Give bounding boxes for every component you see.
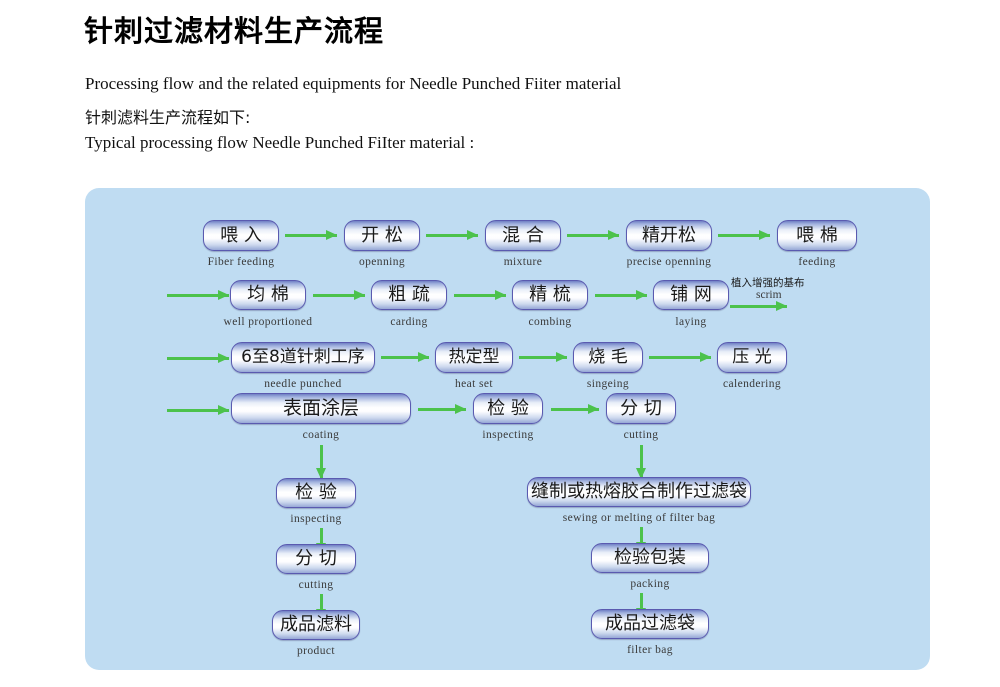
caption-mixture: mixture [465,256,581,268]
caption-inspecting-row4: inspecting [450,429,566,441]
subtitle-line-2: 针刺滤料生产流程如下: [85,104,250,128]
caption-needle-punched: needle punched [243,378,363,390]
arrow-row1-1 [285,230,337,241]
node-label-cn: 分 切 [295,550,337,568]
arrow-head [455,404,466,414]
node-well-proportioned[interactable]: 均 棉 [230,280,306,310]
arrow-row2-1 [313,290,365,301]
arrow-row4-1 [418,404,466,415]
node-heat-set[interactable]: 热定型 [435,342,513,373]
node-calendering[interactable]: 压 光 [717,342,787,373]
caption-heat-set: heat set [416,378,532,390]
node-label-cn: 缝制或热熔胶合制作过滤袋 [531,483,747,501]
arrow-row2-2 [454,290,506,301]
arrow-head [467,230,478,240]
node-fiber-feeding[interactable]: 喂 入 [203,220,279,251]
page-root: 针刺过滤材料生产流程 Processing flow and the relat… [0,0,1000,687]
node-label-cn: 开 松 [361,227,403,245]
subtitle-line-1: Processing flow and the related equipmen… [85,74,621,94]
node-needle-punched[interactable]: 6至8道针刺工序 [231,342,375,373]
caption-openning: openning [324,256,440,268]
caption-combing: combing [492,316,608,328]
node-label-cn: 检验包装 [614,549,686,567]
arrow-row4-2 [551,404,599,415]
node-openning[interactable]: 开 松 [344,220,420,251]
node-inspecting-left[interactable]: 检 验 [276,478,356,508]
node-singeing[interactable]: 烧 毛 [573,342,643,373]
node-label-cn: 压 光 [732,349,771,366]
arrow-row3-1 [381,352,429,363]
node-label-cn: 精开松 [642,227,696,245]
arrow-head [495,290,506,300]
caption-inspecting-left: inspecting [258,513,374,525]
node-carding[interactable]: 粗 疏 [371,280,447,310]
arrow-head [218,290,229,300]
arrow-head [636,290,647,300]
caption-cutting-row4: cutting [583,429,699,441]
node-label-cn: 成品滤料 [280,616,352,634]
node-cutting-row4[interactable]: 分 切 [606,393,676,424]
caption-coating: coating [261,429,381,441]
caption-product: product [258,645,374,657]
arrow-head [556,352,567,362]
caption-carding: carding [351,316,467,328]
node-label-cn: 喂 入 [220,227,262,245]
node-label-cn: 分 切 [620,400,662,418]
node-label-cn: 精 梳 [529,286,571,304]
arrow-head [354,290,365,300]
arrow-scrim [730,301,787,312]
node-label-cn: 成品过滤袋 [605,615,695,633]
flowchart-panel: 喂 入 Fiber feeding 开 松 openning 混 合 mixtu… [85,188,930,670]
node-mixture[interactable]: 混 合 [485,220,561,251]
node-combing[interactable]: 精 梳 [512,280,588,310]
caption-filter-bag: filter bag [591,644,709,656]
node-label-cn: 6至8道针刺工序 [241,349,365,366]
node-sewing-filter-bag[interactable]: 缝制或热熔胶合制作过滤袋 [527,477,751,507]
arrow-head [700,352,711,362]
arrow-row1-3 [567,230,619,241]
node-label-cn: 表面涂层 [283,399,359,418]
node-product[interactable]: 成品滤料 [272,610,360,640]
arrow-branch-right-1 [636,445,647,479]
caption-fiber-feeding: Fiber feeding [183,256,299,268]
caption-precise-openning: precise openning [602,256,736,268]
caption-cutting-left: cutting [258,579,374,591]
arrow-head [218,353,229,363]
arrow-head [326,230,337,240]
arrow-row1-2 [426,230,478,241]
node-label-cn: 粗 疏 [388,286,430,304]
arrow-head [218,405,229,415]
subtitle-line-3: Typical processing flow Needle Punched F… [85,133,474,153]
node-laying[interactable]: 铺 网 [653,280,729,310]
arrow-head [418,352,429,362]
caption-laying: laying [633,316,749,328]
node-label-cn: 混 合 [502,227,544,245]
node-packing[interactable]: 检验包装 [591,543,709,573]
arrow-head [776,301,787,311]
caption-feeding: feeding [759,256,875,268]
caption-calendering: calendering [694,378,810,390]
node-label-cn: 检 验 [487,400,529,418]
caption-well-proportioned: well proportioned [198,316,338,328]
node-coating[interactable]: 表面涂层 [231,393,411,424]
node-label-cn: 均 棉 [247,286,289,304]
node-feeding[interactable]: 喂 棉 [777,220,857,251]
node-label-cn: 铺 网 [670,286,712,304]
arrow-row2-in [167,290,229,301]
arrow-head [759,230,770,240]
arrow-row3-in [167,353,229,364]
node-inspecting-row4[interactable]: 检 验 [473,393,543,424]
node-label-cn: 热定型 [449,349,500,366]
node-label-cn: 烧 毛 [588,349,627,366]
arrow-head [588,404,599,414]
arrow-branch-left-1 [316,445,327,479]
arrow-row1-4 [718,230,770,241]
arrow-row4-in [167,405,229,416]
scrim-label-en: scrim [756,289,782,301]
caption-singeing: singeing [550,378,666,390]
arrow-head [608,230,619,240]
node-precise-openning[interactable]: 精开松 [626,220,712,251]
caption-packing: packing [591,578,709,590]
node-label-cn: 检 验 [295,484,337,502]
node-cutting-left[interactable]: 分 切 [276,544,356,574]
page-title: 针刺过滤材料生产流程 [84,8,384,50]
caption-sewing-filter-bag: sewing or melting of filter bag [527,512,751,524]
arrow-row2-3 [595,290,647,301]
arrow-row3-2 [519,352,567,363]
scrim-label-cn: 植入增强的基布 [731,275,805,290]
arrow-row3-3 [649,352,711,363]
node-label-cn: 喂 棉 [796,227,838,245]
node-filter-bag[interactable]: 成品过滤袋 [591,609,709,639]
